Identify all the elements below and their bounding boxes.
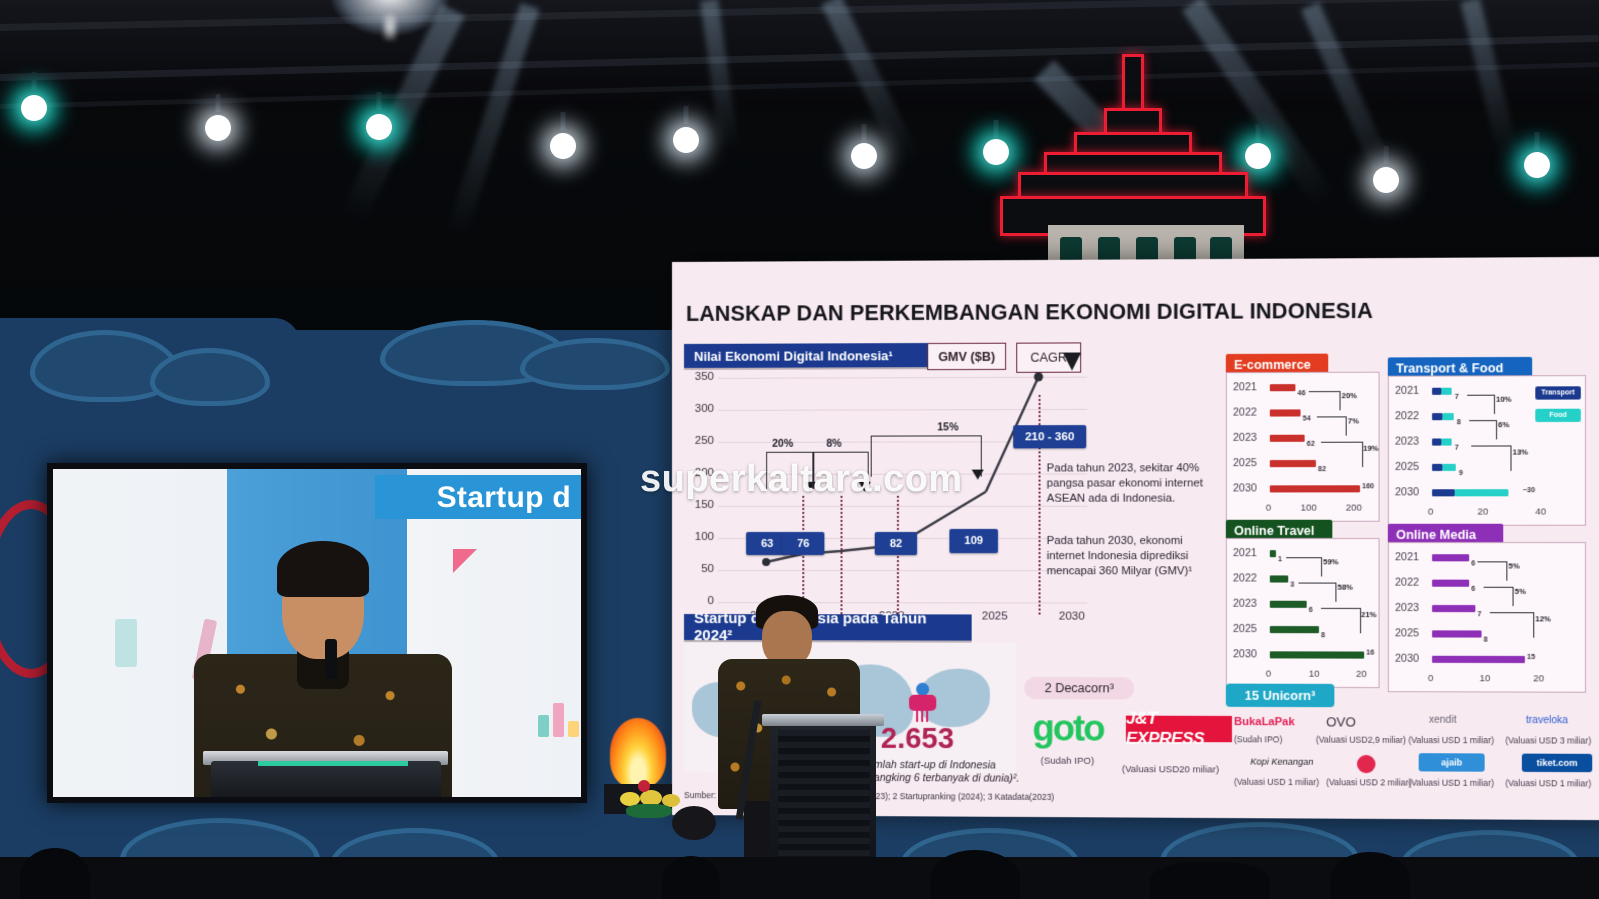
panel-online-travel: 2021 2022 2023 2025 2030 1 3 6 8 16 59% … [1226,538,1380,688]
data-label-projection: 210 - 360 [1013,425,1086,448]
x-tick: 20 [1477,506,1488,517]
dark-vase [672,806,716,840]
cagr-label: 10% [1496,395,1512,404]
logo-ovo: OVO [1326,714,1356,729]
bar [1432,554,1469,561]
decor-swatch [115,619,137,667]
cagr-connector [1490,612,1534,637]
x-tick: 0 [1428,673,1433,684]
x-tick: 20 [1356,669,1367,680]
bar-value: 6 [1309,607,1313,614]
logo-goto-note: (Sudah IPO) [1041,756,1095,767]
cagr-connector [1477,561,1507,580]
stage-light-teal [360,108,398,146]
speaker-hair [277,541,369,597]
x-tick: 10 [1309,669,1320,680]
logo-traveloka: traveloka [1526,715,1568,726]
cagr-connector [1467,395,1495,414]
decor-bar [538,715,549,737]
lamp-bulb [550,133,576,159]
logo-jnt: J&T EXPRESS [1126,716,1232,743]
logo-xendit: xendit [1429,715,1457,726]
cagr-label: 13% [1513,447,1529,456]
bar [1270,485,1360,492]
logo-ajaib: ajaib [1419,753,1485,772]
bar-transport [1432,413,1442,420]
bar-year: 2022 [1395,577,1419,589]
data-label: 82 [875,532,917,555]
left-projection-screen: Startup d [47,463,587,803]
logo-tiket-com: tiket.com [1522,754,1592,773]
logo-dana-note: (Valuasi USD 2 miliar) [1326,777,1411,788]
cagr-label: 20% [772,438,793,450]
cagr-connector [1317,416,1347,435]
cagr-label: 58% [1337,583,1352,592]
bar [1270,550,1276,557]
cagr-label: 8% [826,438,841,450]
lamp-bulb [851,143,877,169]
bar-food [1442,413,1453,420]
audience-silhouette [662,856,720,899]
cagr-connector [1484,587,1514,606]
bar-value: 3 [1290,582,1294,589]
gmv-chip-label: GMV ($B) [938,349,995,363]
bar-year: 2021 [1395,551,1419,563]
bar-year: 2025 [1395,627,1419,639]
bar-year: 2022 [1395,410,1419,422]
x-tick: 200 [1346,503,1362,514]
bar-year: 2025 [1233,457,1257,469]
bar-year: 2021 [1395,385,1419,397]
logo-bukalapak: BukaLaPak [1234,716,1295,728]
stage-light-teal [14,88,54,128]
audience-silhouette [930,850,1020,899]
bar [1432,605,1475,612]
logo-traveloka-note: (Valuasi USD 3 miliar) [1505,735,1591,746]
stage-podium-top [762,714,884,726]
cagr-connector [1321,608,1361,633]
bar-transport [1432,438,1441,445]
panel-title: Online Travel [1234,523,1314,537]
cagr-chip-label: CAGR [1030,351,1067,365]
slide-title: LANSKAP DAN PERKEMBANGAN EKONOMI DIGITAL… [686,299,1373,327]
cagr-label: 19% [1363,444,1378,453]
x-tick: 20 [1533,673,1544,684]
note-2030: Pada tahun 2030, ekonomi internet Indone… [1047,534,1212,579]
foliage [626,804,672,818]
logo-ajaib-note: (Valuasi USD 1 miliar) [1408,777,1494,788]
stage-light-white [848,140,880,172]
cagr-label: 5% [1508,561,1519,570]
lamp-bulb [1373,167,1399,193]
bar-value: 54 [1303,415,1311,422]
bar-total: 7 [1455,394,1459,401]
bar-value: 1 [1278,556,1282,563]
lamp-bulb [366,114,392,140]
bar-food [1441,388,1451,395]
stage-light-teal [1520,148,1554,182]
logo-xendit-note: (Valuasi USD 1 miliar) [1408,735,1494,745]
cagr-label: 20% [1342,391,1357,400]
bar-value: 82 [1318,466,1326,473]
bar-year: 2023 [1395,602,1419,614]
data-label: 76 [782,532,824,555]
x-tick: 40 [1535,506,1546,517]
bar [1270,460,1316,467]
chandelier [330,0,450,36]
bar-value: 160 [1362,483,1374,490]
logo-ovo-note: (Valuasi USD2,9 miliar) [1316,734,1406,744]
bar [1270,435,1305,442]
bar-transport [1432,464,1442,471]
cagr-label: 7% [1348,416,1359,425]
lamp-bulb [21,95,47,121]
cagr-connector [1286,557,1322,576]
stage-light-white [668,122,704,158]
panel-online-media: 2021 2022 2023 2025 2030 6 6 7 8 15 5% 5… [1388,542,1586,693]
chart-header-label: Nilai Ekonomi Digital Indonesia¹ [694,348,893,364]
panel-e-commerce: 2021 2022 2023 2025 2030 46 54 62 82 160… [1226,372,1380,522]
bar [1270,409,1301,416]
x-tick: 2025 [982,610,1008,622]
bar-value: 15 [1527,654,1535,661]
bar-year: 2023 [1233,598,1257,610]
bar [1432,656,1525,663]
unicorn-tag: 15 Unicorn³ [1226,684,1335,708]
cagr-arrow-icon [972,470,984,480]
bar-value: 6 [1471,586,1475,593]
audience-silhouette [1150,862,1270,899]
logo-kopi-kenangan: Kopi Kenangan [1250,756,1313,766]
cagr-label: 12% [1535,614,1551,623]
x-tick: 0 [1428,507,1433,518]
logo-jnt-note: (Valuasi USD20 miliar) [1122,764,1219,776]
panel-title: Transport & Food [1396,361,1503,376]
audience-silhouette [20,848,90,899]
audience-silhouette [1330,852,1410,899]
cagr-connector [1469,420,1497,439]
cagr-label: 15% [937,421,958,433]
cagr-connector [1298,583,1336,602]
x-tick: 0 [1266,669,1271,680]
startup-caption-2: (Rangking 6 terbanyak di dunia)². [863,772,1116,787]
bar-value: 62 [1307,441,1315,448]
x-tick: 0 [1266,503,1271,514]
bar-year: 2030 [1395,653,1419,665]
bar-value: 46 [1297,390,1305,397]
x-tick: 100 [1301,503,1317,514]
lamp-bulb [1524,152,1550,178]
bar [1432,630,1481,637]
decor-bar [553,703,564,737]
feed-startup-label: Startup d [437,481,571,515]
bar-total: ~30 [1523,487,1535,494]
watermark: superkaltara.com [640,458,970,501]
podium-light-strip [258,761,408,766]
logo-tiket-note: (Valuasi USD 1 miliar) [1505,778,1591,789]
panel-title: Online Media [1396,527,1476,541]
logo-kopi-kenangan-note: (Valuasi USD 1 miliar) [1234,777,1319,788]
bar-year: 2023 [1233,432,1257,444]
logo-dana [1357,755,1375,773]
lamp-bulb [673,127,699,153]
x-tick: 10 [1479,673,1490,684]
bar [1270,651,1364,658]
bar [1270,626,1319,633]
bar-total: 9 [1459,470,1463,477]
bar-year: 2022 [1233,406,1257,418]
legend-transport: Transport [1535,386,1581,399]
logo-bukalapak-note: (Sudah IPO) [1234,734,1282,744]
cagr-connector [1321,442,1363,467]
bar-value: 8 [1321,632,1325,639]
data-label: 109 [949,529,998,553]
bar-value: 6 [1471,560,1475,567]
cagr-connector [1471,445,1511,470]
bar-year: 2030 [1233,648,1257,660]
bar-year: 2023 [1395,435,1419,447]
cagr-label: 6% [1498,420,1509,429]
flower [638,780,650,792]
podium [211,761,441,797]
bar-total: 8 [1457,419,1461,426]
bar-food [1455,489,1509,496]
bar-value: 8 [1484,637,1488,644]
flame-icon [610,718,666,788]
legend-food: Food [1535,409,1581,422]
bar-year: 2021 [1233,381,1257,393]
bar-total: 7 [1455,445,1459,452]
logo-goto: goto [1032,707,1103,750]
cagr-label: 59% [1323,557,1338,566]
chart-header-ribbon: Nilai Ekonomi Digital Indonesia¹ [684,343,935,368]
startup-count: 2.653 [881,723,954,756]
note-2023: Pada tahun 2023, sekitar 40% pangsa pasa… [1047,461,1212,506]
bar-value: 16 [1366,650,1374,657]
bar [1270,601,1307,608]
cagr-connector [1309,391,1341,410]
bar-year: 2021 [1233,547,1257,559]
bar [1270,384,1296,391]
panel-title: E-commerce [1234,357,1311,371]
x-tick: 2030 [1059,611,1085,623]
bar-food [1442,464,1455,471]
lamp-bulb [205,115,231,141]
bar-year: 2025 [1233,623,1257,635]
bar [1270,575,1288,582]
stage-light-white [200,110,236,146]
rocket-icon [905,683,939,727]
bar [1432,580,1469,587]
bar-year: 2022 [1233,572,1257,584]
panel-transport-food: 2021 2022 2023 2025 2030 7 8 7 9 ~30 10%… [1388,375,1586,526]
microphone [325,639,337,679]
bar-value: 7 [1477,611,1481,618]
cagr-label: 21% [1361,610,1376,619]
stage-light-white [1368,162,1404,198]
bar-year: 2030 [1233,482,1257,494]
stage-light-white [545,128,581,164]
decacorn-tag: 2 Decacorn³ [1024,677,1134,700]
bar-year: 2030 [1395,486,1419,498]
stage-scene: Startup d LANSKAP DAN PERKEMBANGAN EKONO… [0,0,1599,899]
live-camera-feed: Startup d [53,469,581,797]
decor-bar [568,721,579,737]
bar-transport [1432,388,1441,395]
cagr-label: 5% [1515,587,1526,596]
bar-transport [1432,489,1455,496]
bar-year: 2025 [1395,461,1419,473]
bar-food [1441,438,1451,445]
